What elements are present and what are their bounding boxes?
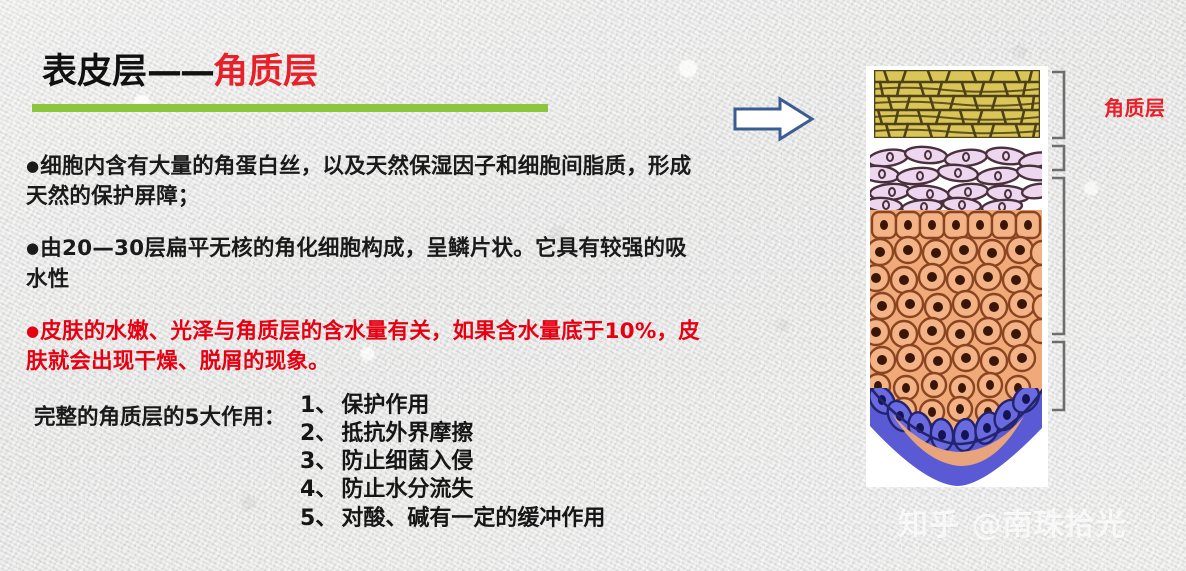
list-item-label: 防止细菌入侵 xyxy=(341,449,473,474)
bracket-corneum xyxy=(1052,72,1064,138)
list-item: 5、对酸、碱有一定的缓冲作用 xyxy=(300,505,605,533)
list-item-label: 对酸、碱有一定的缓冲作用 xyxy=(341,506,605,531)
effects-list: 1、保护作用 2、抵抗外界摩擦 3、防止细菌入侵 4、防止水分流失 5、对酸、碱… xyxy=(300,392,605,533)
body-copy: ●细胞内含有大量的角蛋白丝，以及天然保湿因子和细胞间脂质，形成天然的保护屏障； … xyxy=(26,130,706,431)
right-arrow-icon xyxy=(733,95,815,143)
diagram-layer-label: 角质层 xyxy=(1104,92,1166,121)
paragraph-1: ●细胞内含有大量的角蛋白丝，以及天然保湿因子和细胞间脂质，形成天然的保护屏障； xyxy=(26,152,706,213)
list-item-label: 抵抗外界摩擦 xyxy=(341,421,473,446)
zhihu-watermark: 知乎 @南珠拾光 xyxy=(898,500,1126,544)
list-item-number: 1、 xyxy=(300,393,337,418)
stratum-granulosum-layer xyxy=(866,144,1048,216)
list-item: 2、抵抗外界摩擦 xyxy=(300,420,605,448)
list-item-number: 4、 xyxy=(300,477,337,502)
list-item-number: 2、 xyxy=(300,421,337,446)
list-item-label: 保护作用 xyxy=(341,393,429,418)
paragraph-2: ●由20—30层扁平无核的角化细胞构成，呈鳞片状。它具有较强的吸水性 xyxy=(26,234,706,295)
bracket-granulosum xyxy=(1052,146,1064,170)
bullet-marker: ● xyxy=(26,157,39,175)
paragraph-2-text: 由20—30层扁平无核的角化细胞构成，呈鳞片状。它具有较强的吸水性 xyxy=(26,236,687,292)
page-title-dash: —— xyxy=(147,52,213,92)
paragraph-3-text: 皮肤的水嫩、光泽与角质层的含水量有关，如果含水量底于10%，皮肤就会出现干燥、脱… xyxy=(26,319,700,375)
paragraph-1-text: 细胞内含有大量的角蛋白丝，以及天然保湿因子和细胞间脂质，形成天然的保护屏障； xyxy=(26,154,691,210)
stratum-corneum-layer xyxy=(874,70,1040,138)
layer-brackets xyxy=(1048,66,1074,426)
page-title-accent: 角质层 xyxy=(213,52,318,92)
title-underline-rule xyxy=(32,104,548,112)
page-title: 表皮层——角质层 xyxy=(42,55,318,90)
list-item: 4、防止水分流失 xyxy=(300,476,605,504)
bullet-marker: ● xyxy=(26,239,39,257)
page-title-main: 表皮层 xyxy=(42,52,147,92)
epidermis-diagram xyxy=(866,66,1048,487)
title-block: 表皮层——角质层 xyxy=(42,55,318,90)
list-item: 3、防止细菌入侵 xyxy=(300,448,605,476)
slide-canvas: 表皮层——角质层 ●细胞内含有大量的角蛋白丝，以及天然保湿因子和细胞间脂质，形成… xyxy=(0,0,1186,571)
list-item-label: 防止水分流失 xyxy=(341,477,473,502)
paragraph-3: ●皮肤的水嫩、光泽与角质层的含水量有关，如果含水量底于10%，皮肤就会出现干燥、… xyxy=(26,317,706,378)
bracket-basale xyxy=(1052,342,1064,410)
list-item-number: 3、 xyxy=(300,449,337,474)
list-item-number: 5、 xyxy=(300,506,337,531)
bracket-spinosum xyxy=(1052,178,1064,334)
bullet-marker: ● xyxy=(26,322,39,340)
list-item: 1、保护作用 xyxy=(300,392,605,420)
